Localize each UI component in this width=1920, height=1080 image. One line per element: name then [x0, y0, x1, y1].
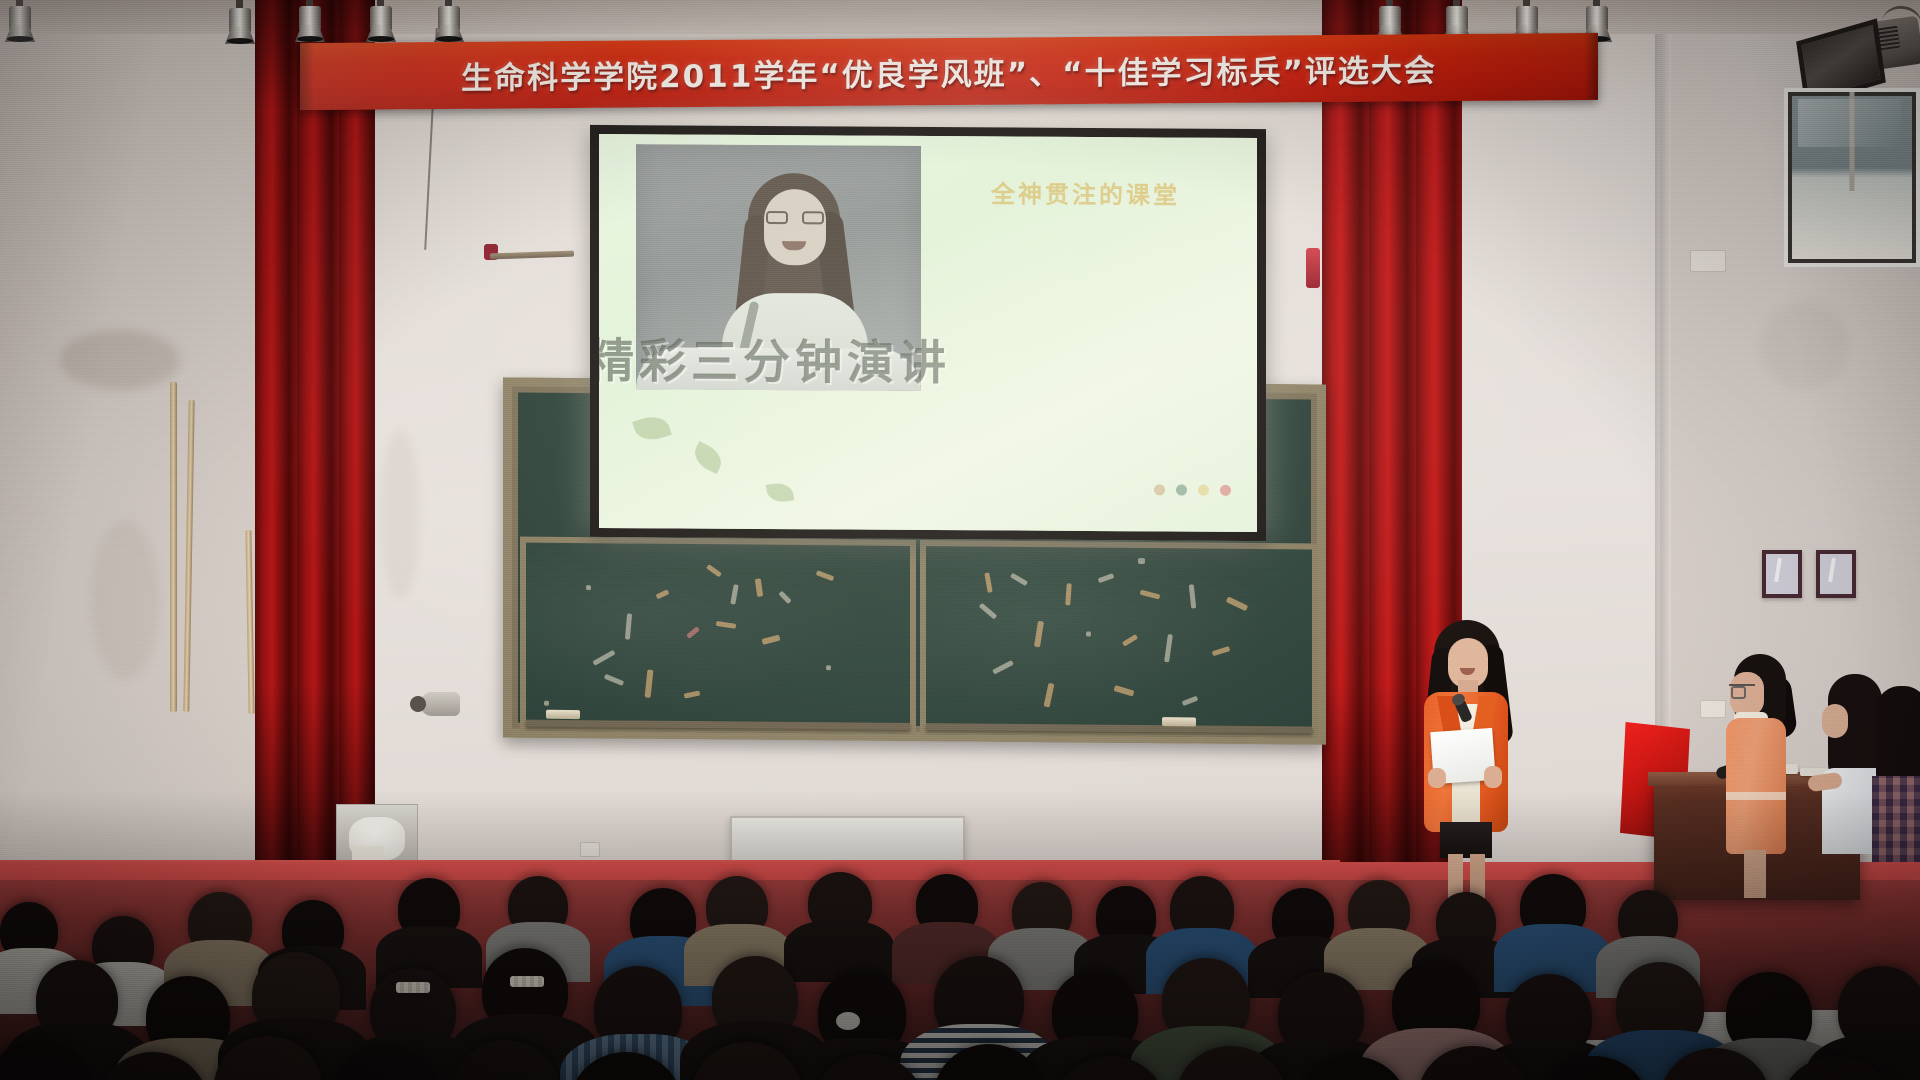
chalk-mark [1212, 646, 1231, 656]
student-audience [0, 790, 1920, 1080]
chalk-mark [716, 621, 737, 629]
chalk-mark [755, 578, 763, 597]
chalk-mark [992, 660, 1014, 675]
chalk-mark [1010, 573, 1028, 586]
leaf-decoration [766, 481, 794, 503]
chalk-mark [656, 589, 670, 599]
presentation-slide: 全神贯注的课堂 精彩三分钟演讲 [599, 134, 1257, 532]
wall-stain [60, 330, 180, 390]
chalk-mark [684, 691, 701, 699]
leaf-decoration [690, 441, 727, 474]
ceiling-spotlight [5, 0, 35, 44]
hair-scrunchie [836, 1012, 860, 1030]
chalk-mark [1164, 634, 1173, 662]
chalk-mark [1122, 634, 1138, 647]
wall-picture-frame [1816, 550, 1856, 598]
curtain-tassel [1306, 248, 1320, 288]
window-glare [1798, 99, 1900, 147]
chalk-mark [625, 613, 632, 639]
chalk-mark [686, 626, 700, 639]
ceiling-spotlight [295, 0, 325, 44]
chalk-mark [1034, 621, 1044, 648]
girl-face [1822, 704, 1848, 738]
wall-stain [380, 430, 420, 600]
girl-hair [1876, 686, 1920, 790]
right-wall-window [1784, 88, 1920, 267]
bamboo-pole [170, 382, 177, 712]
chalk-mark [816, 570, 835, 581]
chalk-mark [1065, 583, 1072, 605]
chalk-tray [926, 723, 1312, 733]
banner-title-text: 生命科学学院2011学年“优良学风班”、“十佳学习标兵”评选大会 [461, 45, 1437, 98]
wall-socket [1690, 250, 1726, 272]
projection-screen: 全神贯注的课堂 精彩三分钟演讲 [590, 125, 1266, 541]
wall-stain [90, 520, 160, 680]
wall-picture-frame [1762, 550, 1802, 598]
chalk-mark [1140, 590, 1161, 600]
wall-speaker [420, 692, 460, 716]
hair-clip [396, 982, 430, 993]
glasses-icon [1729, 684, 1755, 693]
slide-photo-face [764, 189, 826, 265]
slide-dot [1220, 485, 1231, 496]
chalk-mark [544, 701, 549, 706]
ceiling-spotlight [366, 0, 396, 44]
chalk-mark [706, 564, 722, 577]
blackboard-panel-left [520, 537, 916, 734]
blackboard-eraser [546, 710, 580, 719]
banner-edge-shadow [300, 43, 314, 110]
slide-dot [1154, 484, 1165, 495]
chalk-mark [586, 585, 591, 590]
slide-dot [1198, 485, 1209, 496]
chalk-mark [1044, 683, 1055, 708]
ceiling-spotlight [225, 2, 255, 46]
chalk-mark [778, 591, 791, 604]
slide-title-text: 精彩三分钟演讲 [599, 322, 951, 393]
chalk-mark [1189, 584, 1196, 608]
chalk-mark [645, 669, 654, 698]
slide-dot [1176, 485, 1187, 496]
banner-edge-shadow [1584, 33, 1598, 100]
presenter-hand-left [1428, 768, 1446, 788]
presenter-hand-right [1484, 766, 1502, 788]
stage-curtain-left [255, 0, 375, 880]
chalk-mark [826, 665, 831, 670]
event-banner: 生命科学学院2011学年“优良学风班”、“十佳学习标兵”评选大会 [300, 33, 1598, 110]
auditorium-scene: 生命科学学院2011学年“优良学风班”、“十佳学习标兵”评选大会 [0, 0, 1920, 1080]
chalk-mark [730, 584, 738, 605]
blackboard-eraser [1162, 717, 1196, 726]
chalk-mark [984, 572, 992, 593]
left-wall-panel [0, 0, 262, 880]
slide-dot-row [1154, 484, 1231, 495]
slide-caption-text: 全神贯注的课堂 [991, 174, 1180, 210]
chalk-mark [1086, 631, 1091, 636]
chalk-mark [1182, 696, 1199, 707]
glasses-icon [766, 211, 824, 224]
chalk-mark [1226, 596, 1248, 611]
ceiling-spotlight [434, 0, 464, 44]
chalk-mark [1114, 685, 1135, 696]
leaf-decoration [632, 412, 672, 445]
chalk-mark [592, 650, 615, 666]
chalk-mark [1138, 558, 1145, 564]
chalk-mark [1098, 573, 1115, 583]
hair-clip [510, 976, 544, 987]
chalk-mark [979, 603, 998, 620]
chalk-tray [526, 720, 910, 730]
blackboard-panel-right [920, 540, 1318, 737]
chalk-mark [604, 674, 624, 686]
wall-stain [1760, 300, 1850, 390]
chalk-mark [762, 635, 781, 645]
